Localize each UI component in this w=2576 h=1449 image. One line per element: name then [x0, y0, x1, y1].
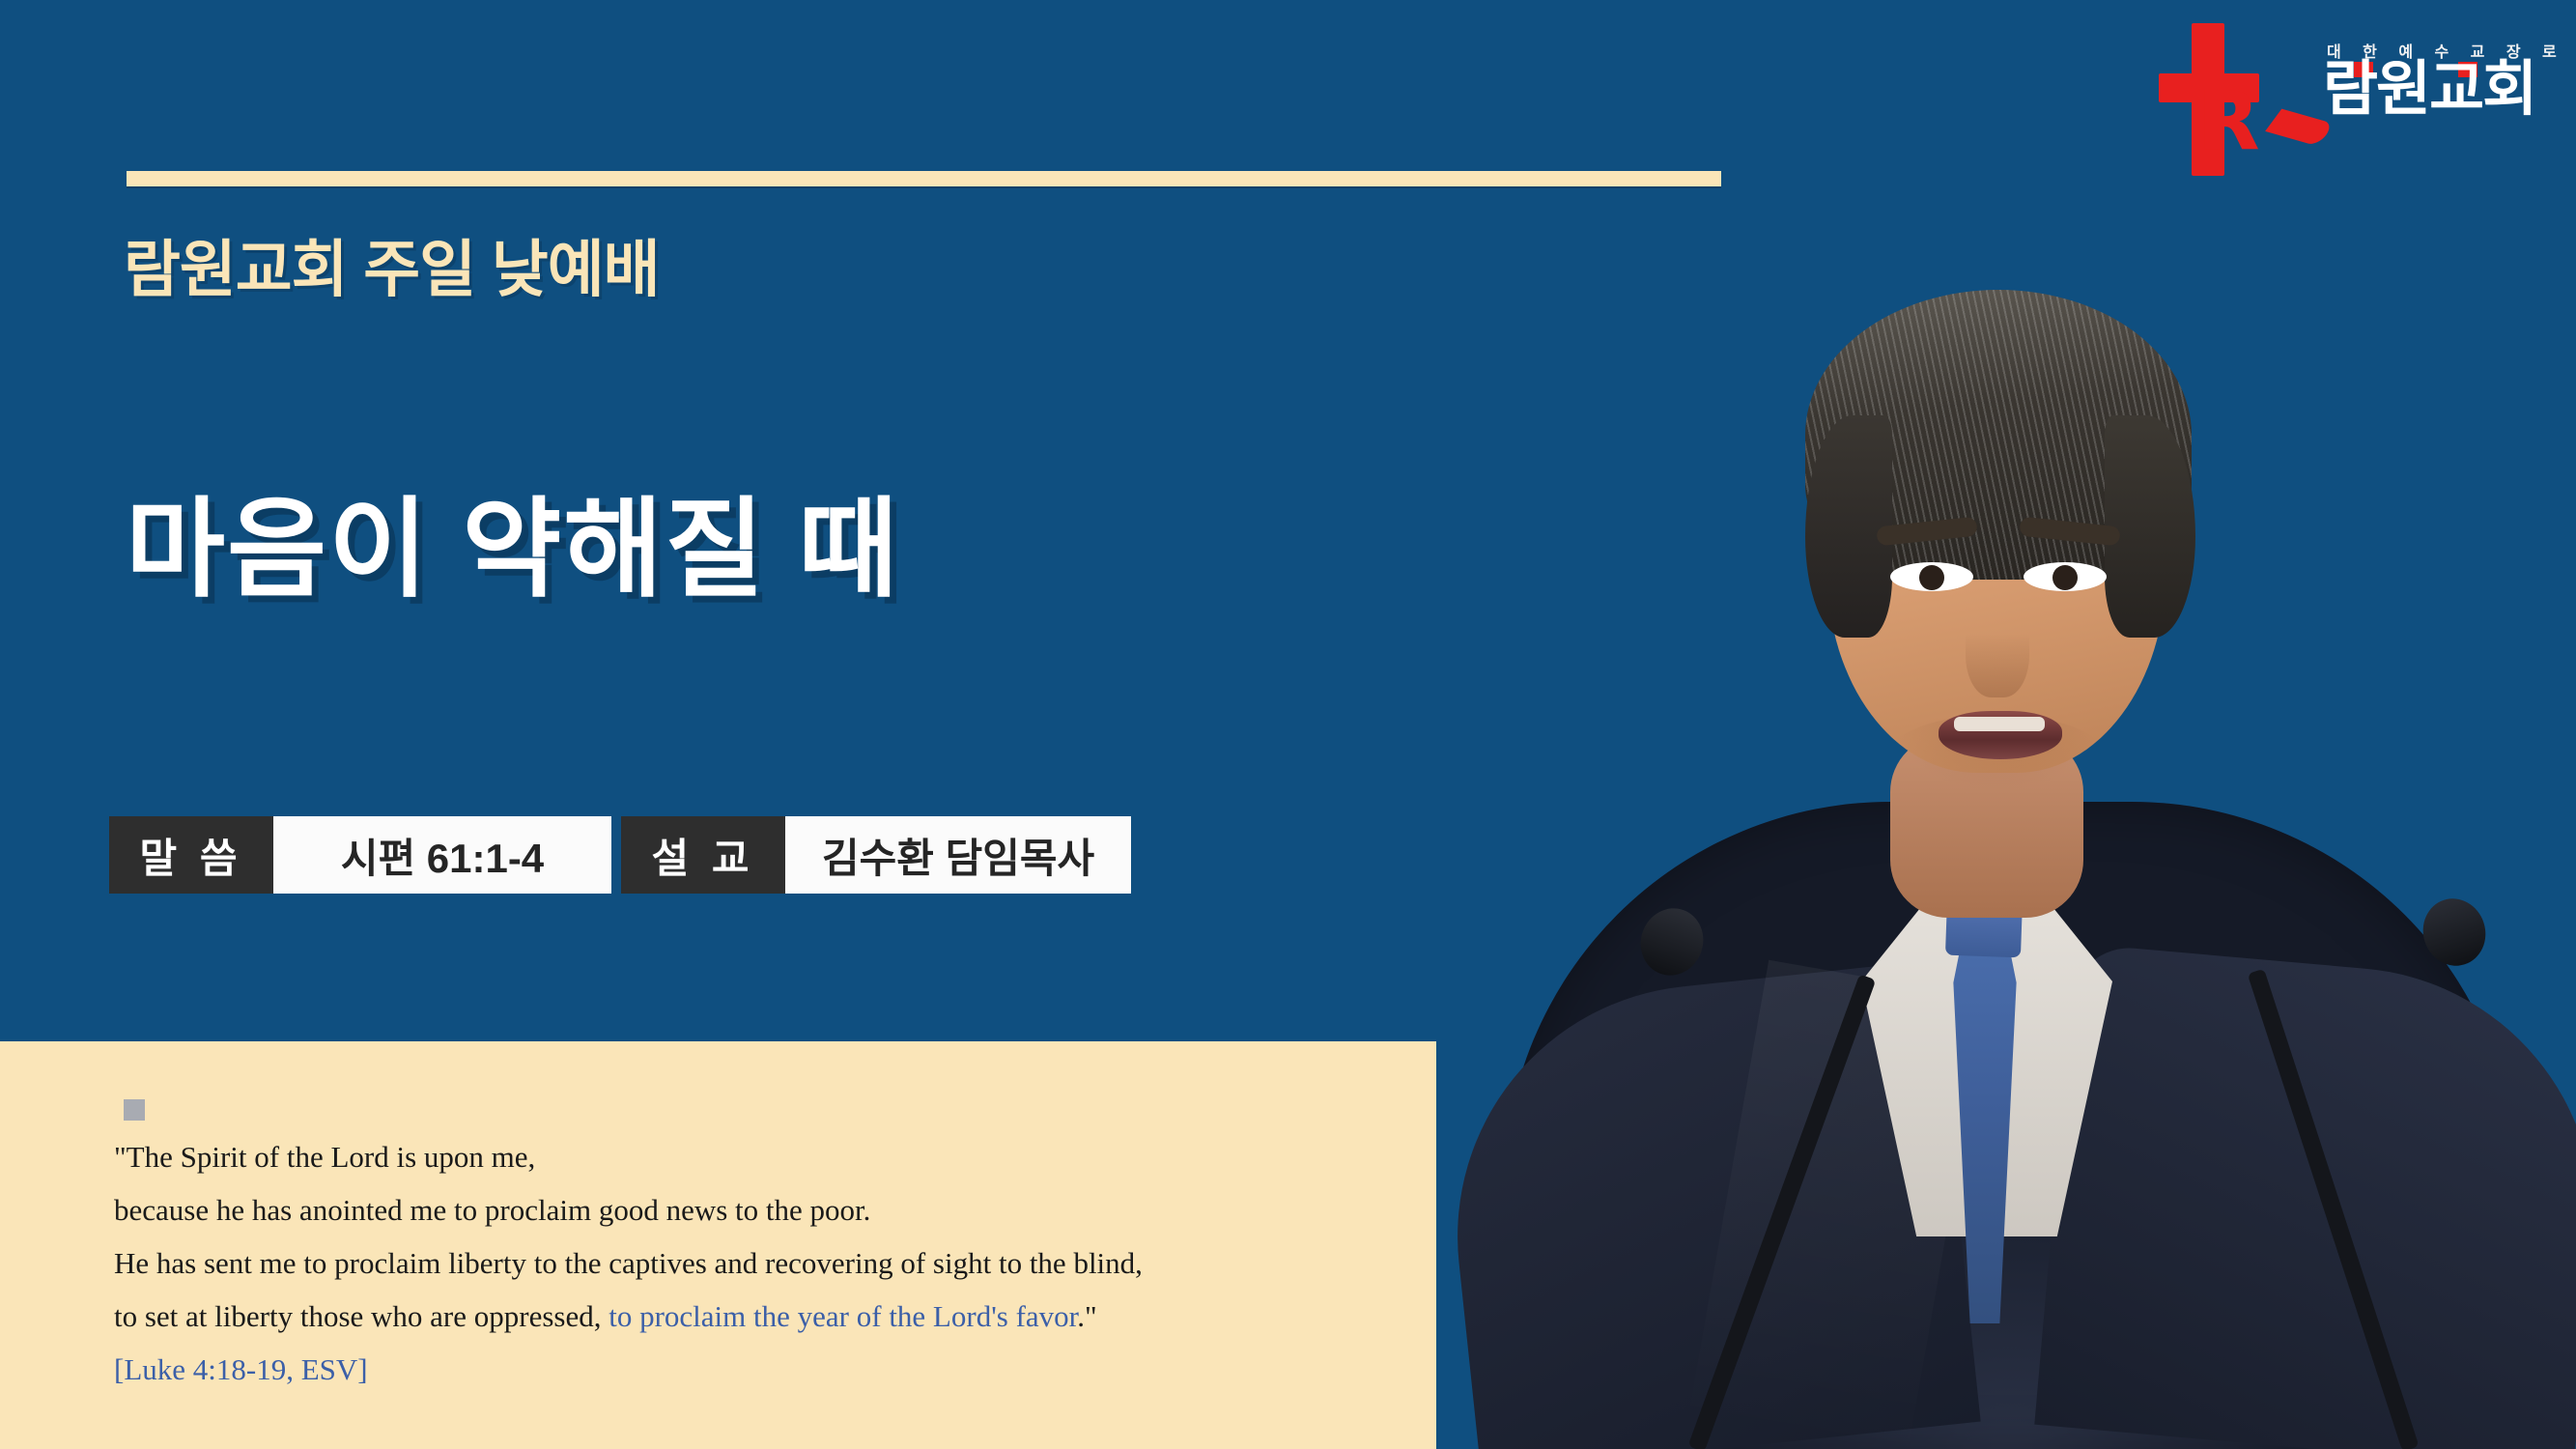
chip-spacer: [611, 816, 621, 894]
logo-church-name: 람원교회: [2323, 60, 2535, 120]
scripture-passage: "The Spirit of the Lord is upon me, beca…: [114, 1130, 1466, 1396]
scripture-line-4: to set at liberty those who are oppresse…: [114, 1290, 1466, 1343]
scripture-line-3: He has sent me to proclaim liberty to th…: [114, 1236, 1466, 1290]
header-divider-rule: [127, 171, 1721, 186]
scripture-reference: 시편 61:1-4: [273, 816, 611, 894]
speaker-pupil-right: [2052, 565, 2078, 590]
speaker-nose: [1966, 591, 2029, 697]
sermon-info-bar: 말 씀 시편 61:1-4 설 교 김수환 담임목사: [109, 816, 1131, 894]
preacher-label: 설 교: [621, 816, 785, 894]
square-bullet-icon: [124, 1099, 145, 1121]
scripture-line-4-plain: to set at liberty those who are oppresse…: [114, 1299, 609, 1333]
logo-mark-letter: R: [2197, 83, 2273, 160]
speaker-photo-canvas: [1436, 0, 2576, 1449]
preacher-name: 김수환 담임목사: [785, 816, 1131, 894]
scripture-line-1: "The Spirit of the Lord is upon me,: [114, 1130, 1466, 1183]
speaker-photo: [1436, 0, 2576, 1449]
speaker-mouth: [1939, 711, 2062, 759]
speaker-teeth: [1954, 717, 2045, 731]
scripture-line-4-tail: .": [1077, 1299, 1096, 1333]
service-subtitle: 람원교회 주일 낮예배: [124, 220, 659, 309]
speaker-pupil-left: [1919, 565, 1944, 590]
scripture-citation: [Luke 4:18-19, ESV]: [114, 1343, 1466, 1396]
sermon-title-slide: R 대 한 예 수 교 장 로 회 람원교회 람원교회 주일 낮예배 마음이 약…: [0, 0, 2576, 1449]
scripture-line-2: because he has anointed me to proclaim g…: [114, 1183, 1466, 1236]
speaker-shoulder-right: [2034, 944, 2576, 1449]
scripture-line-4-highlight: to proclaim the year of the Lord's favor: [609, 1299, 1077, 1333]
scripture-label: 말 씀: [109, 816, 273, 894]
church-logo: R 대 한 예 수 교 장 로 회 람원교회: [2122, 0, 2576, 166]
sermon-title: 마음이 약해질 때: [126, 462, 900, 618]
speaker-eye-left: [1890, 562, 1973, 591]
speaker-eye-right: [2024, 562, 2107, 591]
